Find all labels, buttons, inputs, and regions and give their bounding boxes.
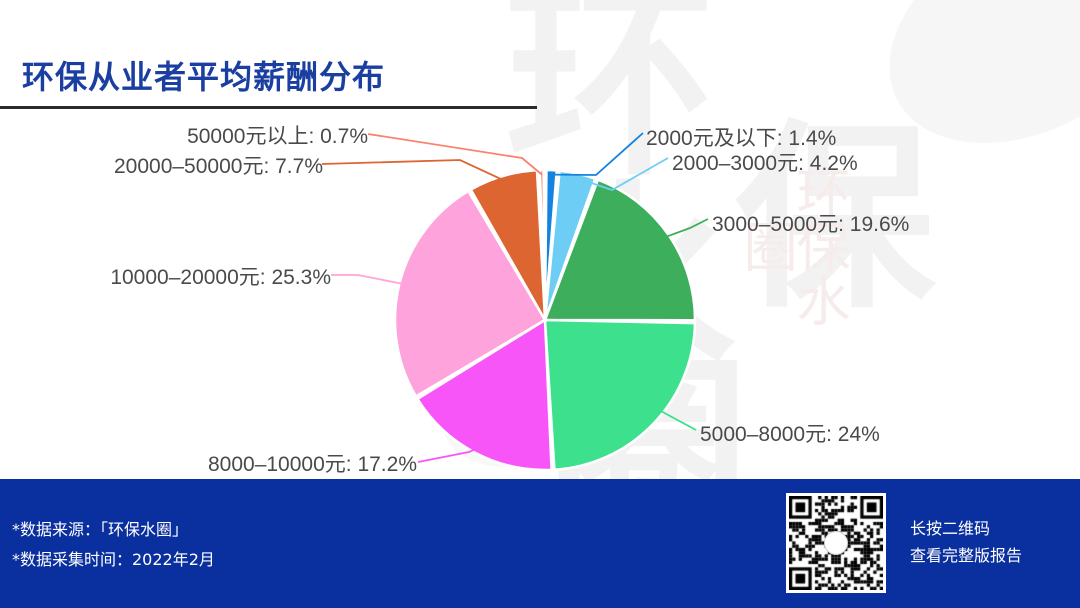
- footer-notes: *数据来源：「环保水圈」 *数据采集时间：2022年2月: [12, 515, 215, 575]
- title-divider: [0, 106, 537, 109]
- qr-instructions: 长按二维码 查看完整版报告: [910, 515, 1022, 569]
- qr-code-logo: [824, 531, 848, 555]
- footer-source-line: *数据来源：「环保水圈」: [12, 515, 215, 545]
- qr-line-1: 长按二维码: [910, 515, 1022, 542]
- pie-leader-line: [368, 134, 542, 175]
- pie-label-2000-3000: 2000–3000元: 4.2%: [672, 147, 858, 177]
- qr-line-2: 查看完整版报告: [910, 542, 1022, 569]
- pie-label-10000-20000: 10000–20000元: 25.3%: [110, 261, 331, 291]
- pie-label-20000-50000: 20000–50000元: 7.7%: [114, 150, 323, 180]
- pie-leader-line: [418, 449, 477, 462]
- pie-leader-line: [551, 133, 643, 175]
- pie-slice: [545, 320, 695, 470]
- pie-label-50000-and-above: 50000元以上: 0.7%: [187, 120, 368, 150]
- pie-label-5000-8000: 5000–8000元: 24%: [700, 418, 880, 448]
- pie-label-8000-10000: 8000–10000元: 17.2%: [208, 448, 417, 478]
- footer-time-line: *数据采集时间：2022年2月: [12, 545, 215, 575]
- pie-leader-line: [665, 219, 708, 237]
- qr-code[interactable]: [786, 493, 886, 593]
- pie-leader-line: [322, 160, 504, 180]
- pie-leader-line: [331, 275, 404, 284]
- pie-label-3000-5000: 3000–5000元: 19.6%: [712, 208, 909, 238]
- page-title: 环保从业者平均薪酬分布: [22, 52, 385, 98]
- footer-band: *数据来源：「环保水圈」 *数据采集时间：2022年2月 长按二维码 查看完整版…: [0, 479, 1080, 608]
- infographic-canvas: 环 保 水 圈 环保水圈 环保从业者平均薪酬分布 2000元及以下: 1.4% …: [0, 0, 1080, 608]
